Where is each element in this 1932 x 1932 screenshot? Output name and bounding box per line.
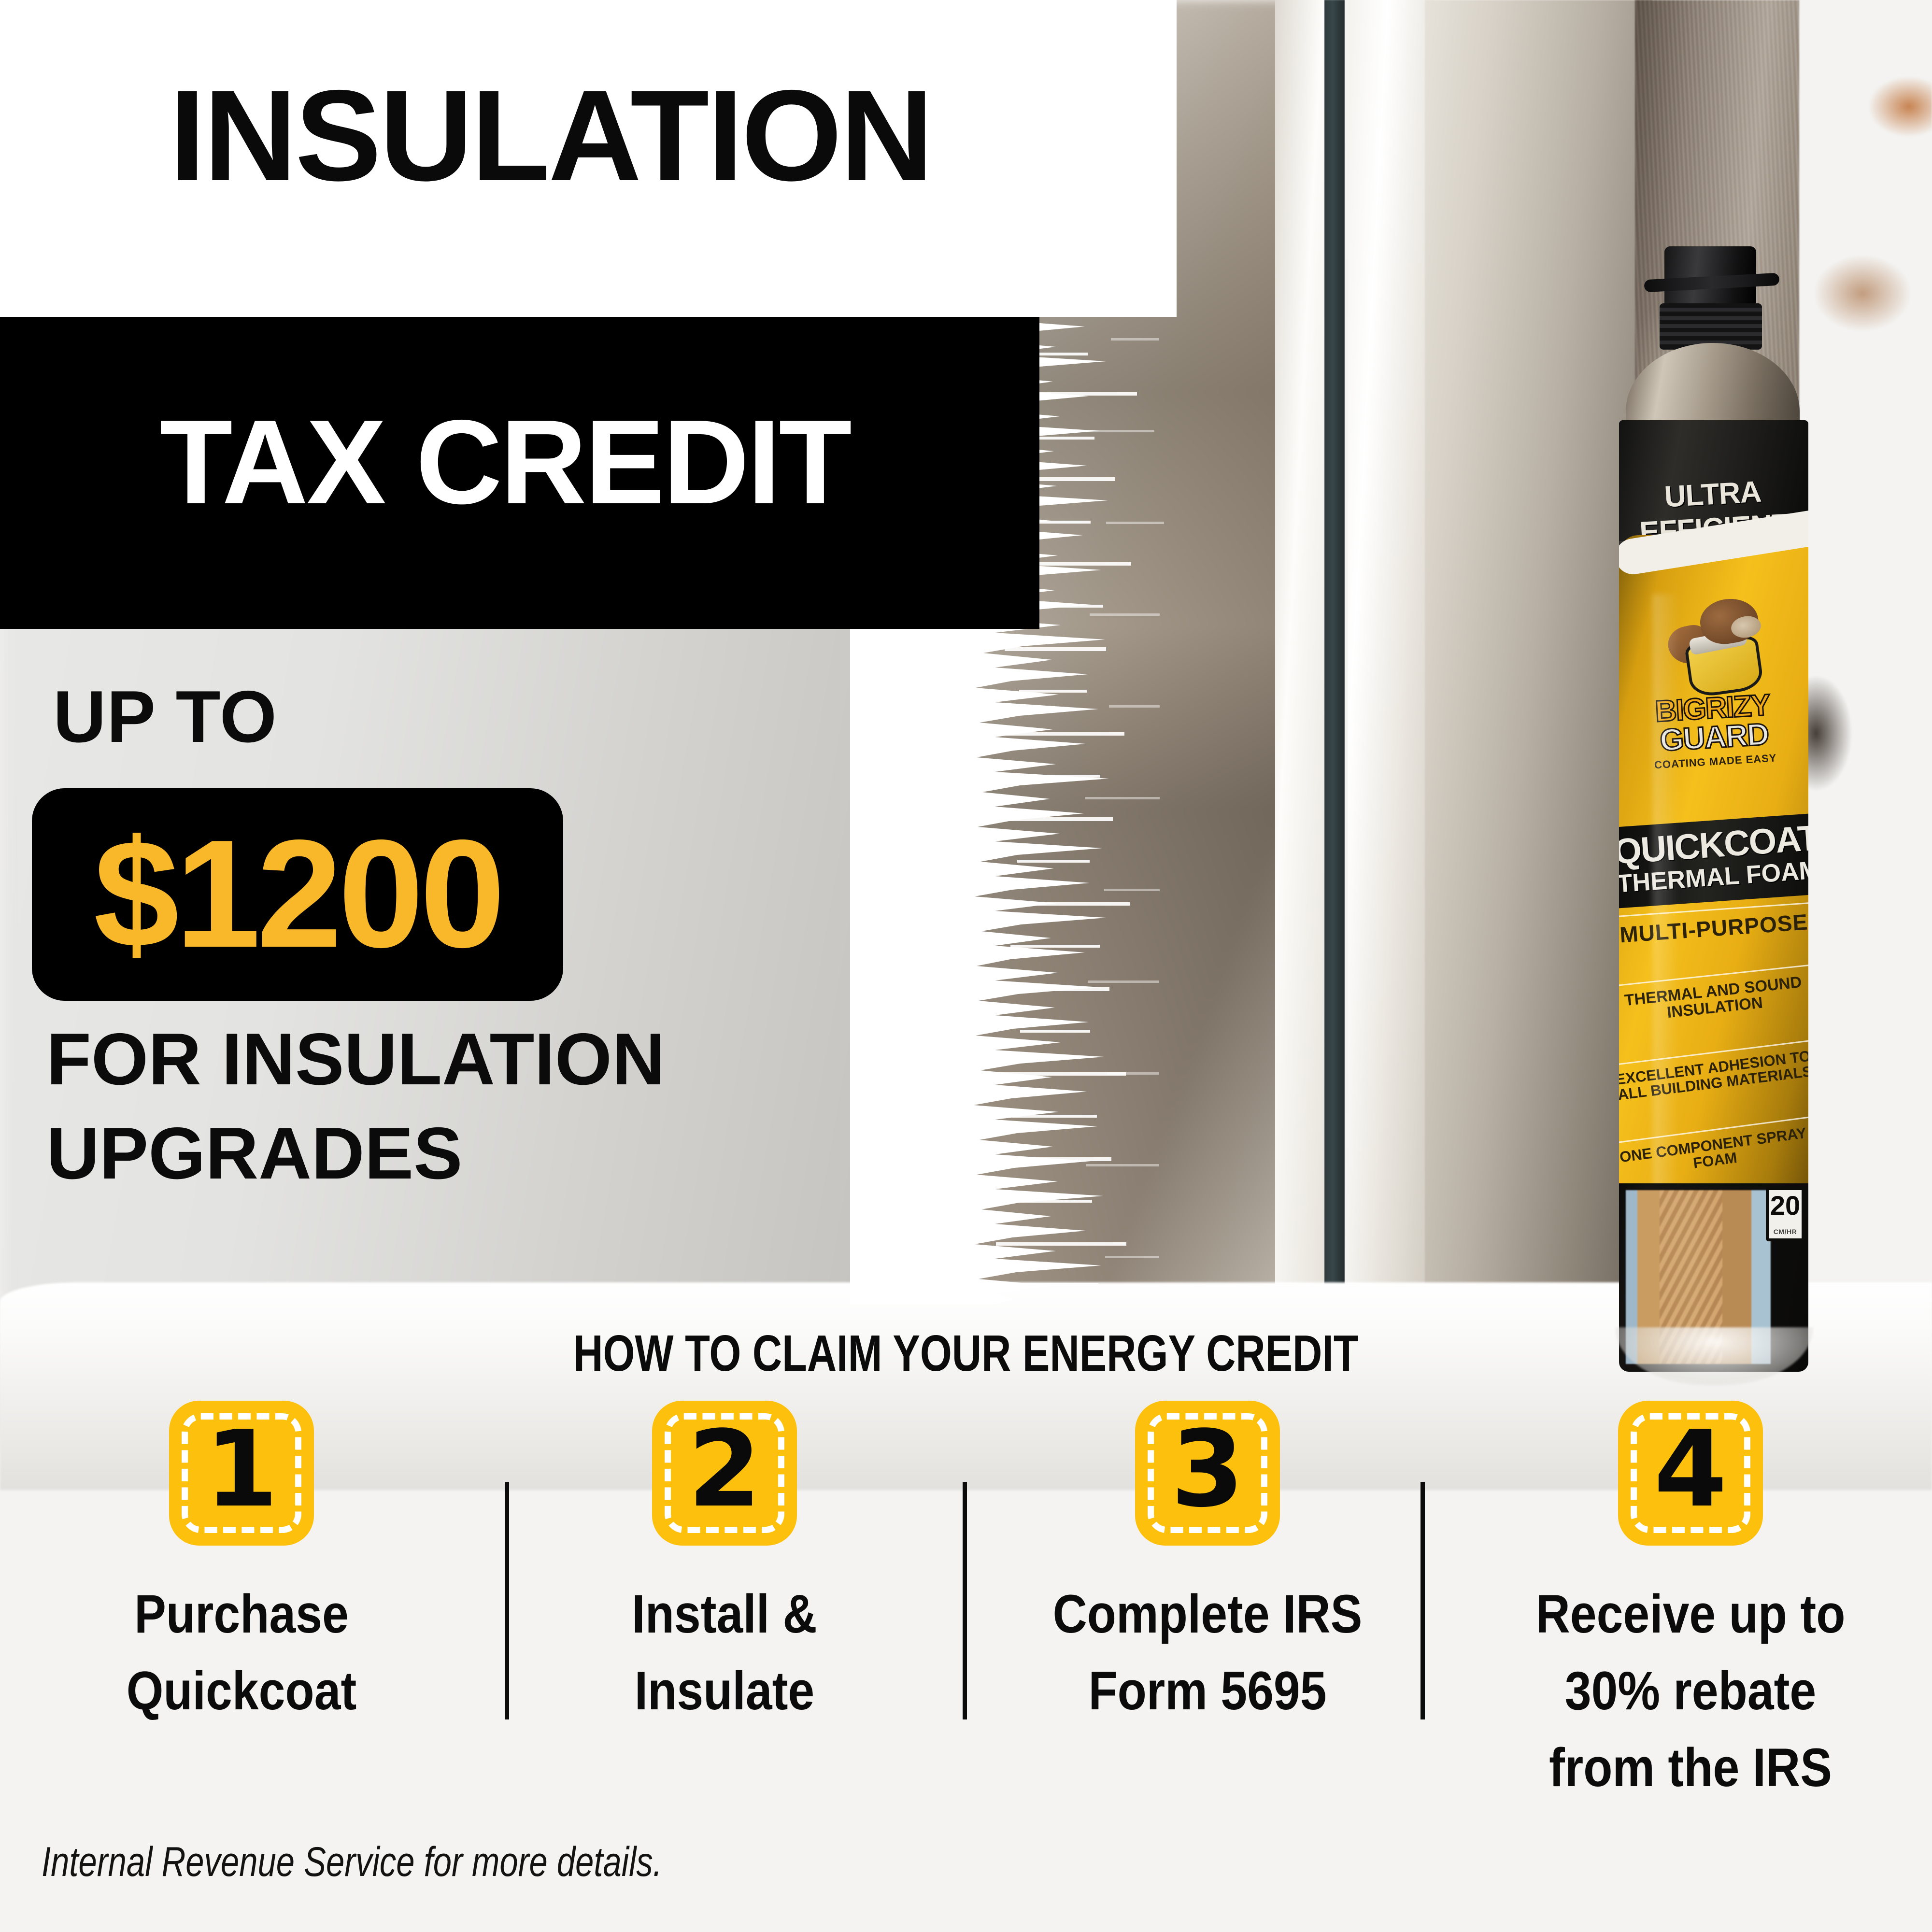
step-number-badge: 2: [652, 1401, 797, 1546]
can-shoulder: [1626, 343, 1800, 432]
page-subtitle: TAX CREDIT: [0, 402, 1009, 522]
step-item[interactable]: 2 Install & Insulate: [483, 1401, 966, 1816]
can-yield-badge: 20 CM/HR: [1766, 1187, 1804, 1241]
product-feature-list: MULTI-PURPOSE THERMAL AND SOUND INSULATI…: [1619, 902, 1808, 1211]
brand-logo: BIGRIZY GUARD COATING MADE EASY: [1619, 689, 1808, 774]
window-frame-inner: [1275, 0, 1326, 1304]
step-label: Receive up to 30% rebate from the IRS: [1478, 1576, 1903, 1806]
step-item[interactable]: 3 Complete IRS Form 5695: [966, 1401, 1449, 1816]
product-feature-1: MULTI-PURPOSE: [1619, 902, 1808, 947]
page-title: INSULATION: [0, 71, 1101, 200]
can-nozzle-icon: [1664, 246, 1756, 309]
step-item[interactable]: 1 Purchase Quickcoat: [0, 1401, 483, 1816]
step-divider: [963, 1482, 967, 1719]
step-divider: [505, 1482, 509, 1719]
window-frame-outer: [1348, 0, 1435, 1304]
product-feature-2: THERMAL AND SOUND INSULATION: [1619, 964, 1808, 1026]
step-label: Complete IRS Form 5695: [995, 1576, 1420, 1729]
step-number: 1: [169, 1417, 314, 1522]
window-gasket: [1324, 0, 1345, 1304]
can-highlight: [1653, 594, 1679, 1212]
can-yield-unit: CM/HR: [1769, 1228, 1802, 1236]
product-name-band: QUICKCOAT THERMAL FOAM: [1619, 813, 1808, 909]
credit-amount: $1200: [32, 817, 563, 971]
product-feature-4: ONE COMPONENT SPRAY FOAM: [1619, 1116, 1808, 1181]
step-item[interactable]: 4 Receive up to 30% rebate from the IRS: [1449, 1401, 1932, 1816]
headline-black-block: TAX CREDIT: [0, 317, 1039, 629]
can-label: ULTRA EFFICIENT BIGRIZY GUARD COATING MA…: [1619, 420, 1808, 1212]
offer-description: FOR INSULATION UPGRADES: [46, 1012, 665, 1200]
can-yield-number: 20: [1769, 1192, 1802, 1219]
howto-heading: HOW TO CLAIM YOUR ENERGY CREDIT: [193, 1324, 1739, 1383]
step-divider: [1421, 1482, 1425, 1719]
up-to-label: UP TO: [53, 680, 277, 753]
grizzly-bear-mascot-icon: [1665, 598, 1772, 695]
headline-white-block: INSULATION: [0, 0, 1177, 317]
spray-foam-can: ULTRA EFFICIENT BIGRIZY GUARD COATING MA…: [1598, 246, 1825, 1386]
step-number: 2: [652, 1417, 797, 1522]
step-number-badge: 3: [1135, 1401, 1280, 1546]
step-number: 4: [1618, 1417, 1763, 1522]
step-label: Purchase Quickcoat: [29, 1576, 454, 1729]
step-number-badge: 1: [169, 1401, 314, 1546]
price-badge: $1200: [32, 788, 563, 1001]
can-label-yellow-panel: BIGRIZY GUARD COATING MADE EASY QUICKCOA…: [1619, 535, 1808, 1212]
product-feature-3: EXCELLENT ADHESION TO ALL BUILDING MATER…: [1619, 1040, 1808, 1103]
step-number-badge: 4: [1618, 1401, 1763, 1546]
poster-root: ULTRA EFFICIENT BIGRIZY GUARD COATING MA…: [0, 0, 1932, 1932]
step-label: Install & Insulate: [512, 1576, 937, 1729]
step-number: 3: [1135, 1417, 1280, 1522]
footnote-text: Internal Revenue Service for more detail…: [42, 1838, 662, 1886]
